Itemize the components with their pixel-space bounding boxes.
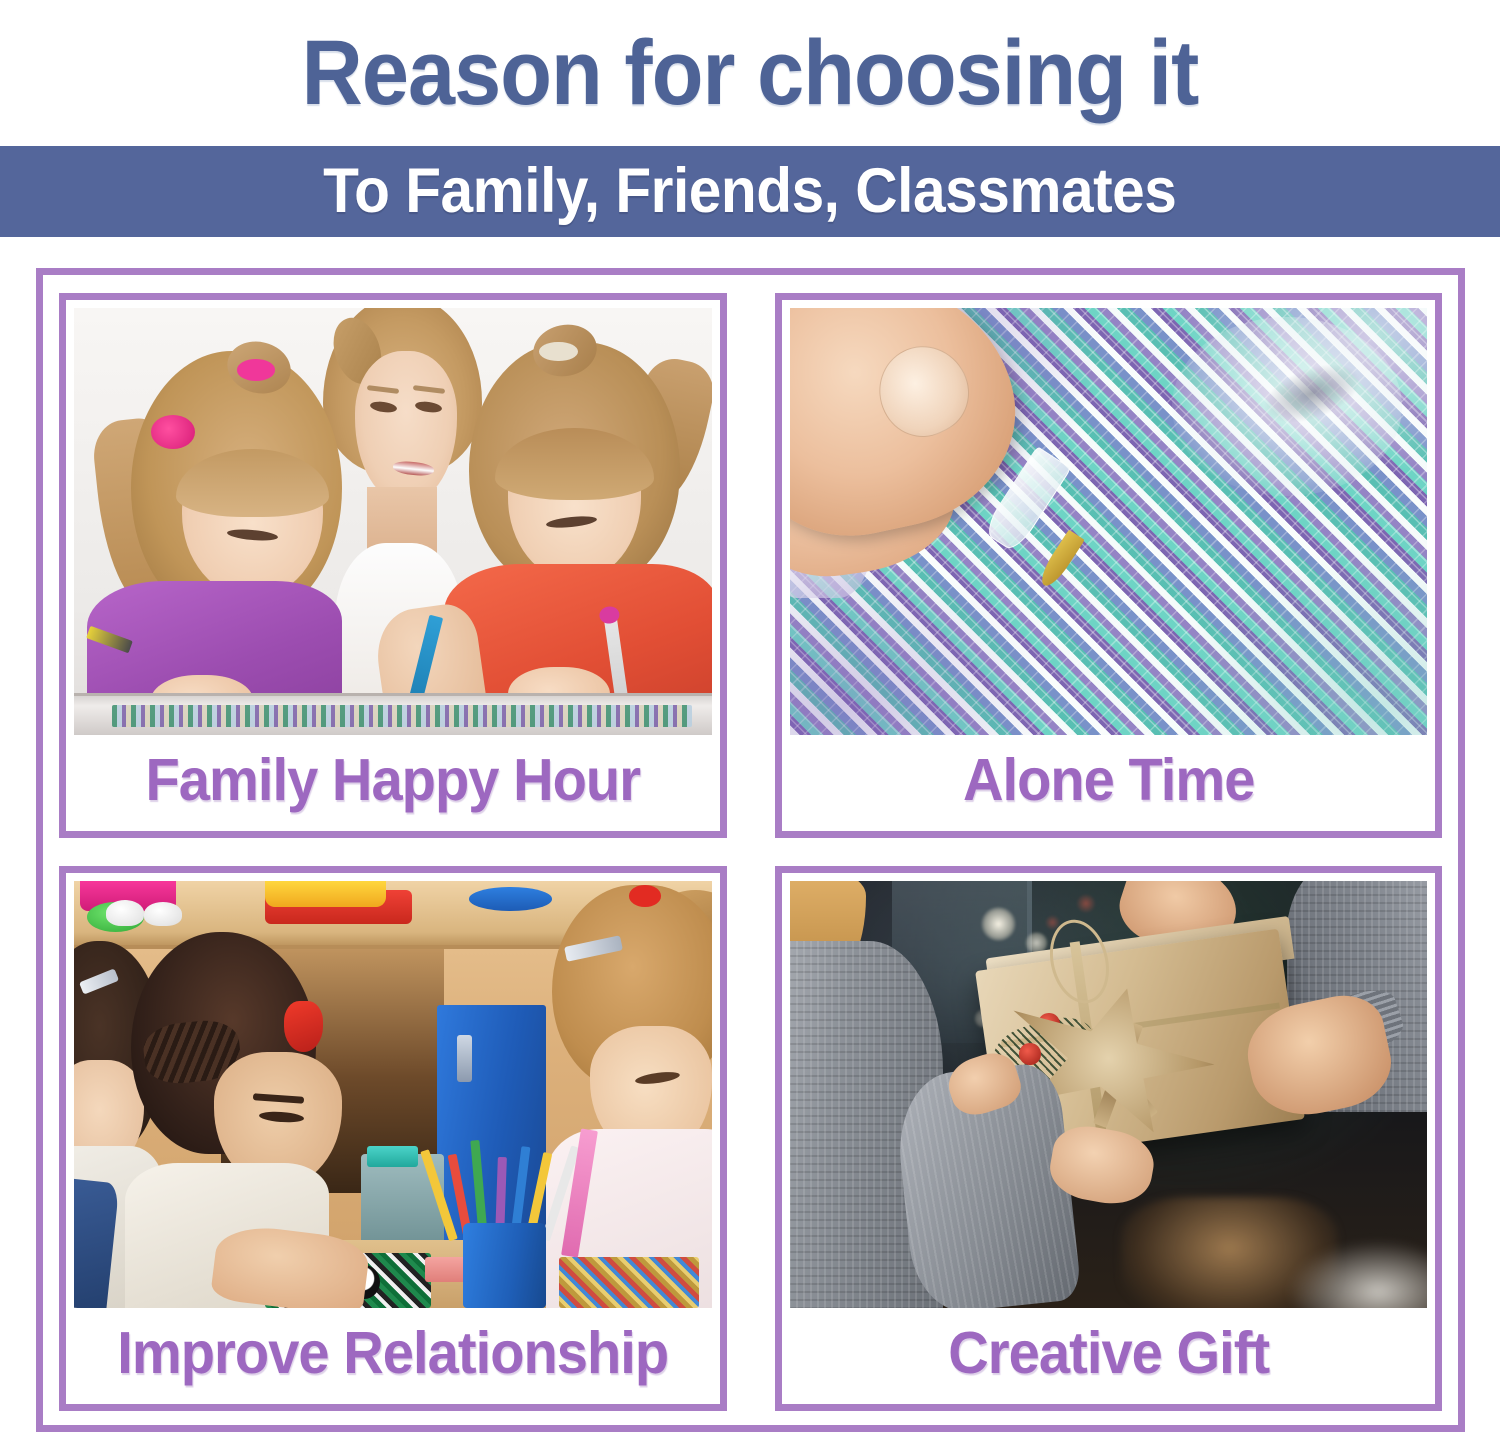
toy-yellow-blocks [265, 881, 386, 907]
toy-white-left [106, 900, 144, 926]
photo-family-drawing [74, 308, 712, 735]
girl-left-pink-hairtie [151, 415, 196, 449]
photo-diamond-painting [790, 308, 1428, 735]
feature-card-creative-gift[interactable]: Creative Gift [775, 866, 1443, 1411]
girl-left-pink-band [237, 359, 275, 380]
toy-blue-disc [469, 887, 552, 910]
feature-card-family-happy-hour[interactable]: Family Happy Hour [59, 293, 727, 838]
card-label-creative-gift: Creative Gift [805, 1308, 1411, 1398]
craft-sheet-right [559, 1257, 699, 1308]
bokeh-light-red-1 [1076, 894, 1095, 913]
photo-gift-exchange [790, 881, 1428, 1308]
bokeh-light-1 [981, 907, 1016, 941]
infographic-page: Reason for choosing it To Family, Friend… [0, 0, 1500, 1442]
page-subtitle: To Family, Friends, Classmates [323, 160, 1176, 223]
red-berry-2 [1019, 1043, 1041, 1064]
feature-card-alone-time[interactable]: Alone Time [775, 293, 1443, 838]
photo-classroom-girls [74, 881, 712, 1308]
blue-pencil-cup [463, 1223, 546, 1308]
girl-right-hairband [539, 342, 577, 361]
canvas-tint-bottom-right [1159, 543, 1427, 735]
card-label-improve-relationship: Improve Relationship [90, 1308, 696, 1398]
craft-canvas [112, 705, 692, 727]
feature-card-improve-relationship[interactable]: Improve Relationship [59, 866, 727, 1411]
subtitle-band: To Family, Friends, Classmates [0, 146, 1500, 237]
girl-b-red-hairclip [284, 1001, 322, 1052]
girl-c-red-hairband [629, 885, 661, 906]
storage-bin-lid [367, 1146, 418, 1167]
card-label-family-happy-hour: Family Happy Hour [90, 735, 696, 825]
toy-white-right [144, 902, 182, 925]
card-label-alone-time: Alone Time [805, 735, 1411, 825]
feature-grid-frame: Family Happy Hour [36, 268, 1465, 1432]
page-title: Reason for choosing it [60, 0, 1440, 146]
locker-handle [457, 1035, 473, 1082]
feature-grid: Family Happy Hour [59, 293, 1442, 1411]
